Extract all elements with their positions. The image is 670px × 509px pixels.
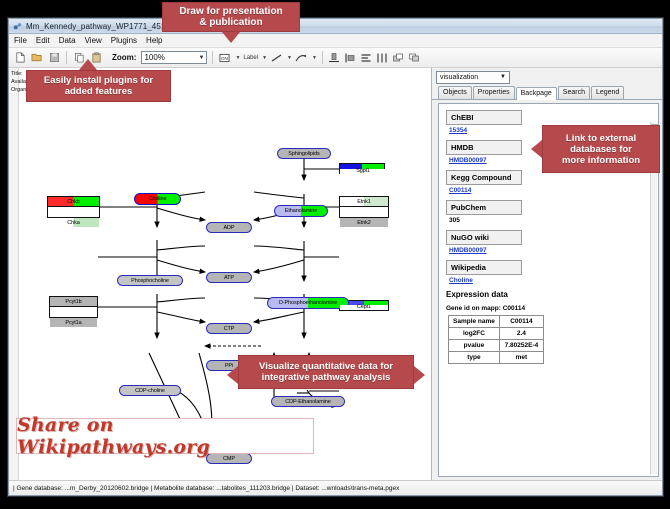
- node-label: Sgpl1: [356, 168, 370, 174]
- chevron-down-icon: ▼: [500, 74, 506, 80]
- zoom-value: 100%: [144, 53, 164, 62]
- order-front-icon[interactable]: [408, 51, 421, 65]
- node-label: Chka: [67, 220, 79, 226]
- node-ethanolamine-1[interactable]: Ethanolamine: [274, 205, 328, 217]
- share-banner-text: Share on Wikipathways.org: [17, 414, 313, 458]
- link-callout-line3: more information: [562, 155, 640, 166]
- expression-data-title: Expression data: [446, 290, 651, 299]
- menu-data[interactable]: Data: [59, 36, 76, 45]
- visualize-callout-line2: integrative pathway analysis: [259, 372, 393, 383]
- tab-search[interactable]: Search: [558, 86, 590, 99]
- menu-help[interactable]: Help: [146, 36, 162, 45]
- node-etnk1[interactable]: Etnk1: [340, 197, 388, 207]
- node-chk[interactable]: Chkb Chka: [47, 196, 100, 218]
- line-caret-icon[interactable]: ▼: [287, 55, 292, 61]
- datanode-caret-icon[interactable]: ▼: [235, 55, 240, 61]
- node-atp[interactable]: ATP: [206, 272, 252, 283]
- node-sphingolipids[interactable]: Sphingolipids: [277, 148, 331, 159]
- visualize-callout-arrow-left: [227, 366, 238, 384]
- plugins-callout-line1: Easily install plugins for: [44, 75, 153, 86]
- link-callout-line2: databases for: [562, 144, 640, 155]
- node-label: Cept1: [357, 304, 371, 310]
- node-label: Choline: [149, 196, 167, 202]
- node-ctp[interactable]: CTP: [206, 323, 252, 334]
- node-pcyt1b[interactable]: Pcyt1b: [50, 297, 97, 307]
- link-callout-arrow: [531, 140, 542, 158]
- db-link-wikipedia[interactable]: Choline: [449, 277, 651, 284]
- db-header-wikipedia: Wikipedia: [446, 260, 522, 275]
- db-header-kegg: Kegg Compound: [446, 170, 522, 185]
- statusbar-text: | Gene database: ...m_Derby_20120602.bri…: [13, 485, 399, 492]
- menu-plugins[interactable]: Plugins: [111, 36, 137, 45]
- zoom-combo[interactable]: 100% ▼: [141, 51, 207, 64]
- side-panel-tabs: Objects Properties Backpage Search Legen…: [432, 86, 662, 100]
- pathway-edges: [9, 68, 432, 472]
- backpage-scrollbar[interactable]: [650, 122, 657, 474]
- link-callout: Link to external databases for more info…: [542, 125, 660, 173]
- draw-callout-line1: Draw for presentation: [179, 6, 282, 17]
- datanode-icon[interactable]: DN: [218, 51, 231, 65]
- menubar: File Edit Data View Plugins Help: [9, 34, 662, 48]
- visualization-value: visualization: [440, 74, 478, 81]
- screenshot-root: Mm_Kennedy_pathway_WP1771_45176.gpml Fil…: [0, 0, 670, 509]
- table-row: pvalue 7.80252E-4: [449, 340, 544, 352]
- save-disk-icon[interactable]: [47, 51, 61, 65]
- node-label: Etnk1: [357, 199, 371, 205]
- node-label: CDP-Ethanolamine: [285, 399, 330, 405]
- stack-icon[interactable]: [360, 51, 373, 65]
- table-cell-key: Sample name: [449, 316, 500, 328]
- draw-callout-line2: & publication: [179, 17, 282, 28]
- node-cdp-choline[interactable]: CDP-choline: [119, 385, 181, 396]
- align-left-icon[interactable]: [344, 51, 357, 65]
- node-label: CDP-choline: [135, 388, 165, 394]
- node-sgpl1[interactable]: Sgpl1: [339, 163, 385, 174]
- menu-edit[interactable]: Edit: [36, 36, 50, 45]
- node-adp[interactable]: ADP: [206, 222, 252, 233]
- node-cdp-ethanolamine[interactable]: CDP-Ethanolamine: [271, 396, 345, 407]
- db-value-pubchem: 305: [449, 217, 651, 224]
- main-toolbar: Zoom: 100% ▼ DN ▼ Label ▼ ▼ ▼: [9, 48, 662, 68]
- table-row: log2FC 2.4: [449, 328, 544, 340]
- table-cell-value: met: [499, 352, 543, 364]
- distribute-icon[interactable]: [376, 51, 389, 65]
- node-choline-top[interactable]: Choline: [134, 193, 181, 205]
- node-label: O-Phosphoethanolamine: [279, 300, 338, 306]
- node-label: Ethanolamine: [285, 208, 317, 214]
- db-link-nugo[interactable]: HMDB00097: [449, 247, 651, 254]
- node-o-phosphoethanolamine[interactable]: O-Phosphoethanolamine: [267, 297, 349, 309]
- visualize-callout-line1: Visualize quantitative data for: [259, 361, 393, 372]
- db-header-pubchem: PubChem: [446, 200, 522, 215]
- tab-legend[interactable]: Legend: [591, 86, 624, 99]
- node-etnk[interactable]: Etnk1 Etnk2: [339, 196, 389, 218]
- expression-table: Sample name C00114 log2FC 2.4 pvalue 7.8…: [448, 315, 544, 364]
- tab-backpage[interactable]: Backpage: [516, 87, 557, 100]
- node-phosphocholine[interactable]: Phosphocholine: [117, 275, 183, 286]
- node-label: Sphingolipids: [288, 151, 319, 157]
- menu-file[interactable]: File: [14, 36, 27, 45]
- table-cell-key: pvalue: [449, 340, 500, 352]
- db-header-chebi: ChEBI: [446, 110, 522, 125]
- plugins-callout: Easily install plugins for added feature…: [26, 70, 171, 102]
- node-chka[interactable]: Chka: [48, 218, 99, 227]
- table-row: Sample name C00114: [449, 316, 544, 328]
- chevron-down-icon: ▼: [198, 55, 204, 61]
- new-file-icon[interactable]: [13, 51, 27, 65]
- node-chkb[interactable]: Chkb: [48, 197, 99, 207]
- node-pcyt1a[interactable]: Pcyt1a: [50, 318, 97, 327]
- line-tool-icon[interactable]: [270, 51, 283, 65]
- table-cell-value: 7.80252E-4: [499, 340, 543, 352]
- node-label: Pcyt1a: [65, 320, 81, 326]
- table-cell-key: log2FC: [449, 328, 500, 340]
- table-cell-value: C00114: [499, 316, 543, 328]
- node-label: Etnk2: [357, 220, 371, 226]
- draw-callout-arrow: [222, 32, 240, 43]
- zoom-label: Zoom:: [112, 53, 136, 62]
- node-label: Pcyt1b: [65, 299, 81, 305]
- svg-text:DN: DN: [222, 55, 229, 60]
- visualize-callout-arrow-right: [414, 366, 436, 384]
- node-label: ADP: [223, 225, 234, 231]
- toolbar-separator-2: [212, 51, 213, 64]
- node-label: ATP: [224, 275, 234, 281]
- visualization-row: visualization ▼: [432, 68, 662, 86]
- node-pcyt1[interactable]: Pcyt1b Pcyt1a: [49, 296, 98, 318]
- gene-id-line: Gene id on mapp: C00114: [446, 305, 651, 312]
- interaction-tool-icon[interactable]: [295, 51, 308, 65]
- db-link-kegg[interactable]: C00114: [449, 187, 651, 194]
- visualize-callout: Visualize quantitative data for integrat…: [238, 355, 414, 389]
- table-cell-key: type: [449, 352, 500, 364]
- order-back-icon[interactable]: [392, 51, 405, 65]
- toolbar-separator-1: [66, 51, 67, 64]
- node-label: CTP: [224, 326, 235, 332]
- plugins-callout-arrow: [79, 59, 97, 70]
- menu-view[interactable]: View: [85, 36, 102, 45]
- visualization-combo[interactable]: visualization ▼: [436, 71, 510, 84]
- node-label: Chkb: [67, 199, 79, 205]
- align-bottom-icon[interactable]: [328, 51, 341, 65]
- app-icon: [13, 22, 22, 31]
- plugins-callout-line2: added features: [44, 86, 153, 97]
- tab-objects[interactable]: Objects: [438, 86, 472, 99]
- node-etnk2[interactable]: Etnk2: [340, 218, 388, 227]
- node-label: Phosphocholine: [131, 278, 169, 284]
- table-cell-value: 2.4: [499, 328, 543, 340]
- label-caret-icon[interactable]: ▼: [262, 55, 267, 61]
- window-titlebar: Mm_Kennedy_pathway_WP1771_45176.gpml: [9, 19, 662, 34]
- statusbar: | Gene database: ...m_Derby_20120602.bri…: [9, 480, 662, 495]
- db-header-nugo: NuGO wiki: [446, 230, 522, 245]
- tab-properties[interactable]: Properties: [473, 86, 515, 99]
- node-cept1[interactable]: Cept1: [339, 300, 389, 311]
- table-row: type met: [449, 352, 544, 364]
- share-banner: Share on Wikipathways.org: [16, 418, 314, 454]
- link-callout-line1: Link to external: [562, 133, 640, 144]
- toolbar-separator-3: [322, 51, 323, 64]
- open-folder-icon[interactable]: [30, 51, 44, 65]
- db-header-hmdb: HMDB: [446, 140, 522, 155]
- label-tool-icon[interactable]: Label: [243, 51, 258, 65]
- draw-callout: Draw for presentation & publication: [162, 2, 300, 32]
- interaction-caret-icon[interactable]: ▼: [312, 55, 317, 61]
